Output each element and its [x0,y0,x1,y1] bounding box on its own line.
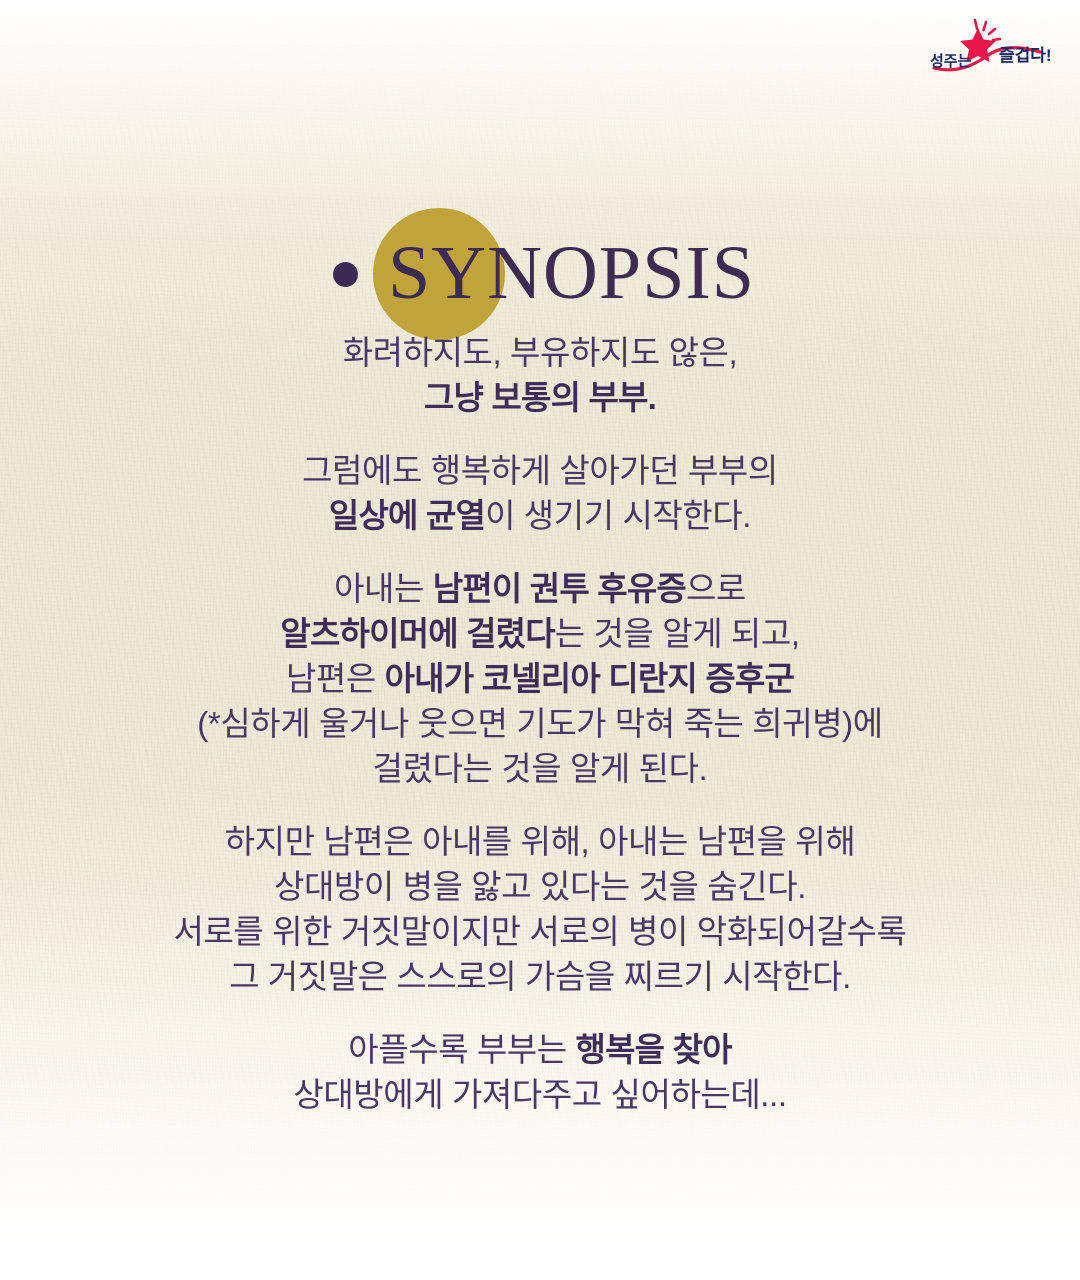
synopsis-page: 성주는 즐겁다! SYNOPSIS 화려하지도, 부유하지도 않은, 그냥 보통… [0,0,1080,1280]
logo-text-right: 즐겁다! [999,46,1052,65]
bullet-dot-icon [333,262,358,287]
logo-text-left: 성주는 [930,52,972,70]
synopsis-paragraph: 화려하지도, 부유하지도 않은, 그냥 보통의 부부. [0,330,1080,420]
synopsis-paragraph: 아내는 남편이 권투 후유증으로 알츠하이머에 걸렸다는 것을 알게 되고, 남… [0,566,1080,791]
synopsis-paragraph: 그럼에도 행복하게 살아가던 부부의 일상에 균열이 생기기 시작한다. [0,448,1080,538]
synopsis-paragraph: 하지만 남편은 아내를 위해, 아내는 남편을 위해 상대방이 병을 앓고 있다… [0,819,1080,999]
seongju-tourism-logo[interactable]: 성주는 즐겁다! [928,16,1060,78]
page-title: SYNOPSIS [388,233,755,313]
synopsis-paragraph: 아플수록 부부는 행복을 찾아 상대방에게 가져다주고 싶어하는데... [0,1027,1080,1117]
page-title-block: SYNOPSIS [0,104,1080,244]
synopsis-body: 화려하지도, 부유하지도 않은, 그냥 보통의 부부. 그럼에도 행복하게 살아… [0,330,1080,1117]
